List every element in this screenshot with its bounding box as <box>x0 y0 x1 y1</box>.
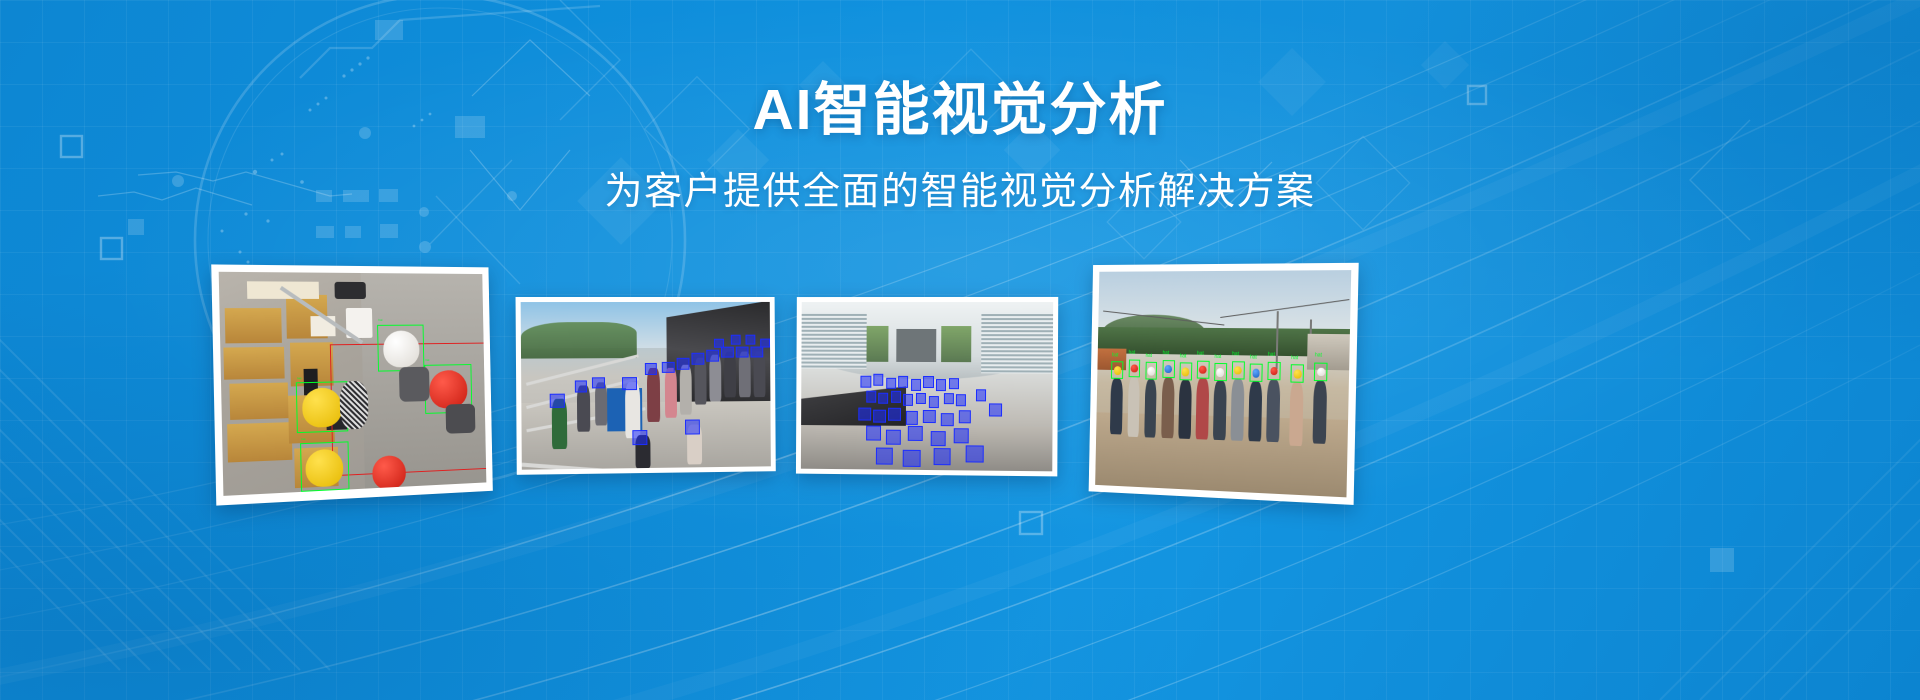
face-box <box>684 419 699 434</box>
crowd-box <box>928 396 938 408</box>
ai-vision-hero-banner: AI智能视觉分析 为客户提供全面的智能视觉分析解决方案 <box>0 0 1920 700</box>
face-box <box>760 338 770 348</box>
face-box <box>549 394 564 407</box>
crowd-box <box>906 411 919 425</box>
face-box <box>714 338 724 348</box>
crowd-box <box>959 410 972 424</box>
crowd-box <box>941 413 954 427</box>
detection-box <box>300 442 349 492</box>
page-subtitle: 为客户提供全面的智能视觉分析解决方案 <box>0 170 1920 216</box>
face-box <box>750 346 762 358</box>
crowd-box <box>956 395 966 407</box>
crowd-box <box>949 378 959 390</box>
face-box <box>622 377 637 390</box>
crowd-box <box>944 393 954 405</box>
face-box <box>731 335 741 345</box>
face-box <box>662 362 674 374</box>
face-box <box>691 353 703 365</box>
crowd-box <box>966 445 984 462</box>
crowd-box <box>916 393 926 405</box>
photo-thumbnail-station-crowd-counting <box>801 302 1053 471</box>
crowd-box <box>923 409 936 423</box>
photo-thumbnail-outdoor-group-helmet-detection: hat hat hat hat hat hat <box>1095 270 1351 497</box>
showcase-photo-card[interactable]: hat hat hat hat <box>211 264 493 505</box>
crowd-box <box>891 391 901 403</box>
crowd-box <box>873 374 883 386</box>
crowd-box <box>866 426 881 441</box>
crowd-box <box>908 426 923 441</box>
scene-warehouse: hat hat hat hat <box>219 272 487 496</box>
face-box <box>592 377 605 389</box>
crowd-box <box>886 429 901 444</box>
crowd-box <box>989 403 1002 417</box>
showcase-photo-card[interactable] <box>516 297 776 475</box>
crowd-box <box>898 376 908 388</box>
crowd-box <box>858 407 871 420</box>
crowd-box <box>976 390 986 402</box>
scene-walkway <box>521 302 771 470</box>
detection-box <box>377 324 424 372</box>
crowd-box <box>888 408 901 421</box>
crowd-box <box>878 392 888 404</box>
crowd-box <box>875 448 893 465</box>
face-box <box>745 335 755 345</box>
crowd-box <box>936 379 946 391</box>
crowd-box <box>886 377 896 389</box>
page-title: AI智能视觉分析 <box>0 78 1920 144</box>
crowd-box <box>923 376 933 388</box>
face-box <box>677 358 689 370</box>
crowd-box <box>953 428 968 443</box>
crowd-box <box>873 409 886 422</box>
crowd-box <box>911 379 921 391</box>
hud-circle-notch <box>300 6 600 78</box>
showcase-photo-strip: hat hat hat hat <box>0 258 1920 518</box>
scene-outdoor-group: hat hat hat hat hat hat <box>1095 270 1351 497</box>
face-box <box>706 350 718 362</box>
crowd-box <box>903 450 921 467</box>
crowd-box <box>931 431 946 446</box>
crowd-box <box>861 376 871 388</box>
photo-thumbnail-walkway-face-detection <box>521 302 771 470</box>
face-box <box>736 346 748 358</box>
crowd-box <box>933 448 951 465</box>
photo-thumbnail-warehouse-helmet-detection: hat hat hat hat <box>219 272 487 496</box>
crowd-box <box>866 391 876 403</box>
face-box <box>644 363 657 375</box>
showcase-photo-card[interactable] <box>796 297 1058 476</box>
face-box <box>632 430 647 445</box>
face-box <box>721 346 733 358</box>
scene-station-platform <box>801 302 1053 471</box>
showcase-photo-card[interactable]: hat hat hat hat hat hat <box>1089 263 1359 505</box>
crowd-box <box>903 394 913 406</box>
hero-heading-block: AI智能视觉分析 为客户提供全面的智能视觉分析解决方案 <box>0 78 1920 215</box>
face-box <box>574 380 587 392</box>
